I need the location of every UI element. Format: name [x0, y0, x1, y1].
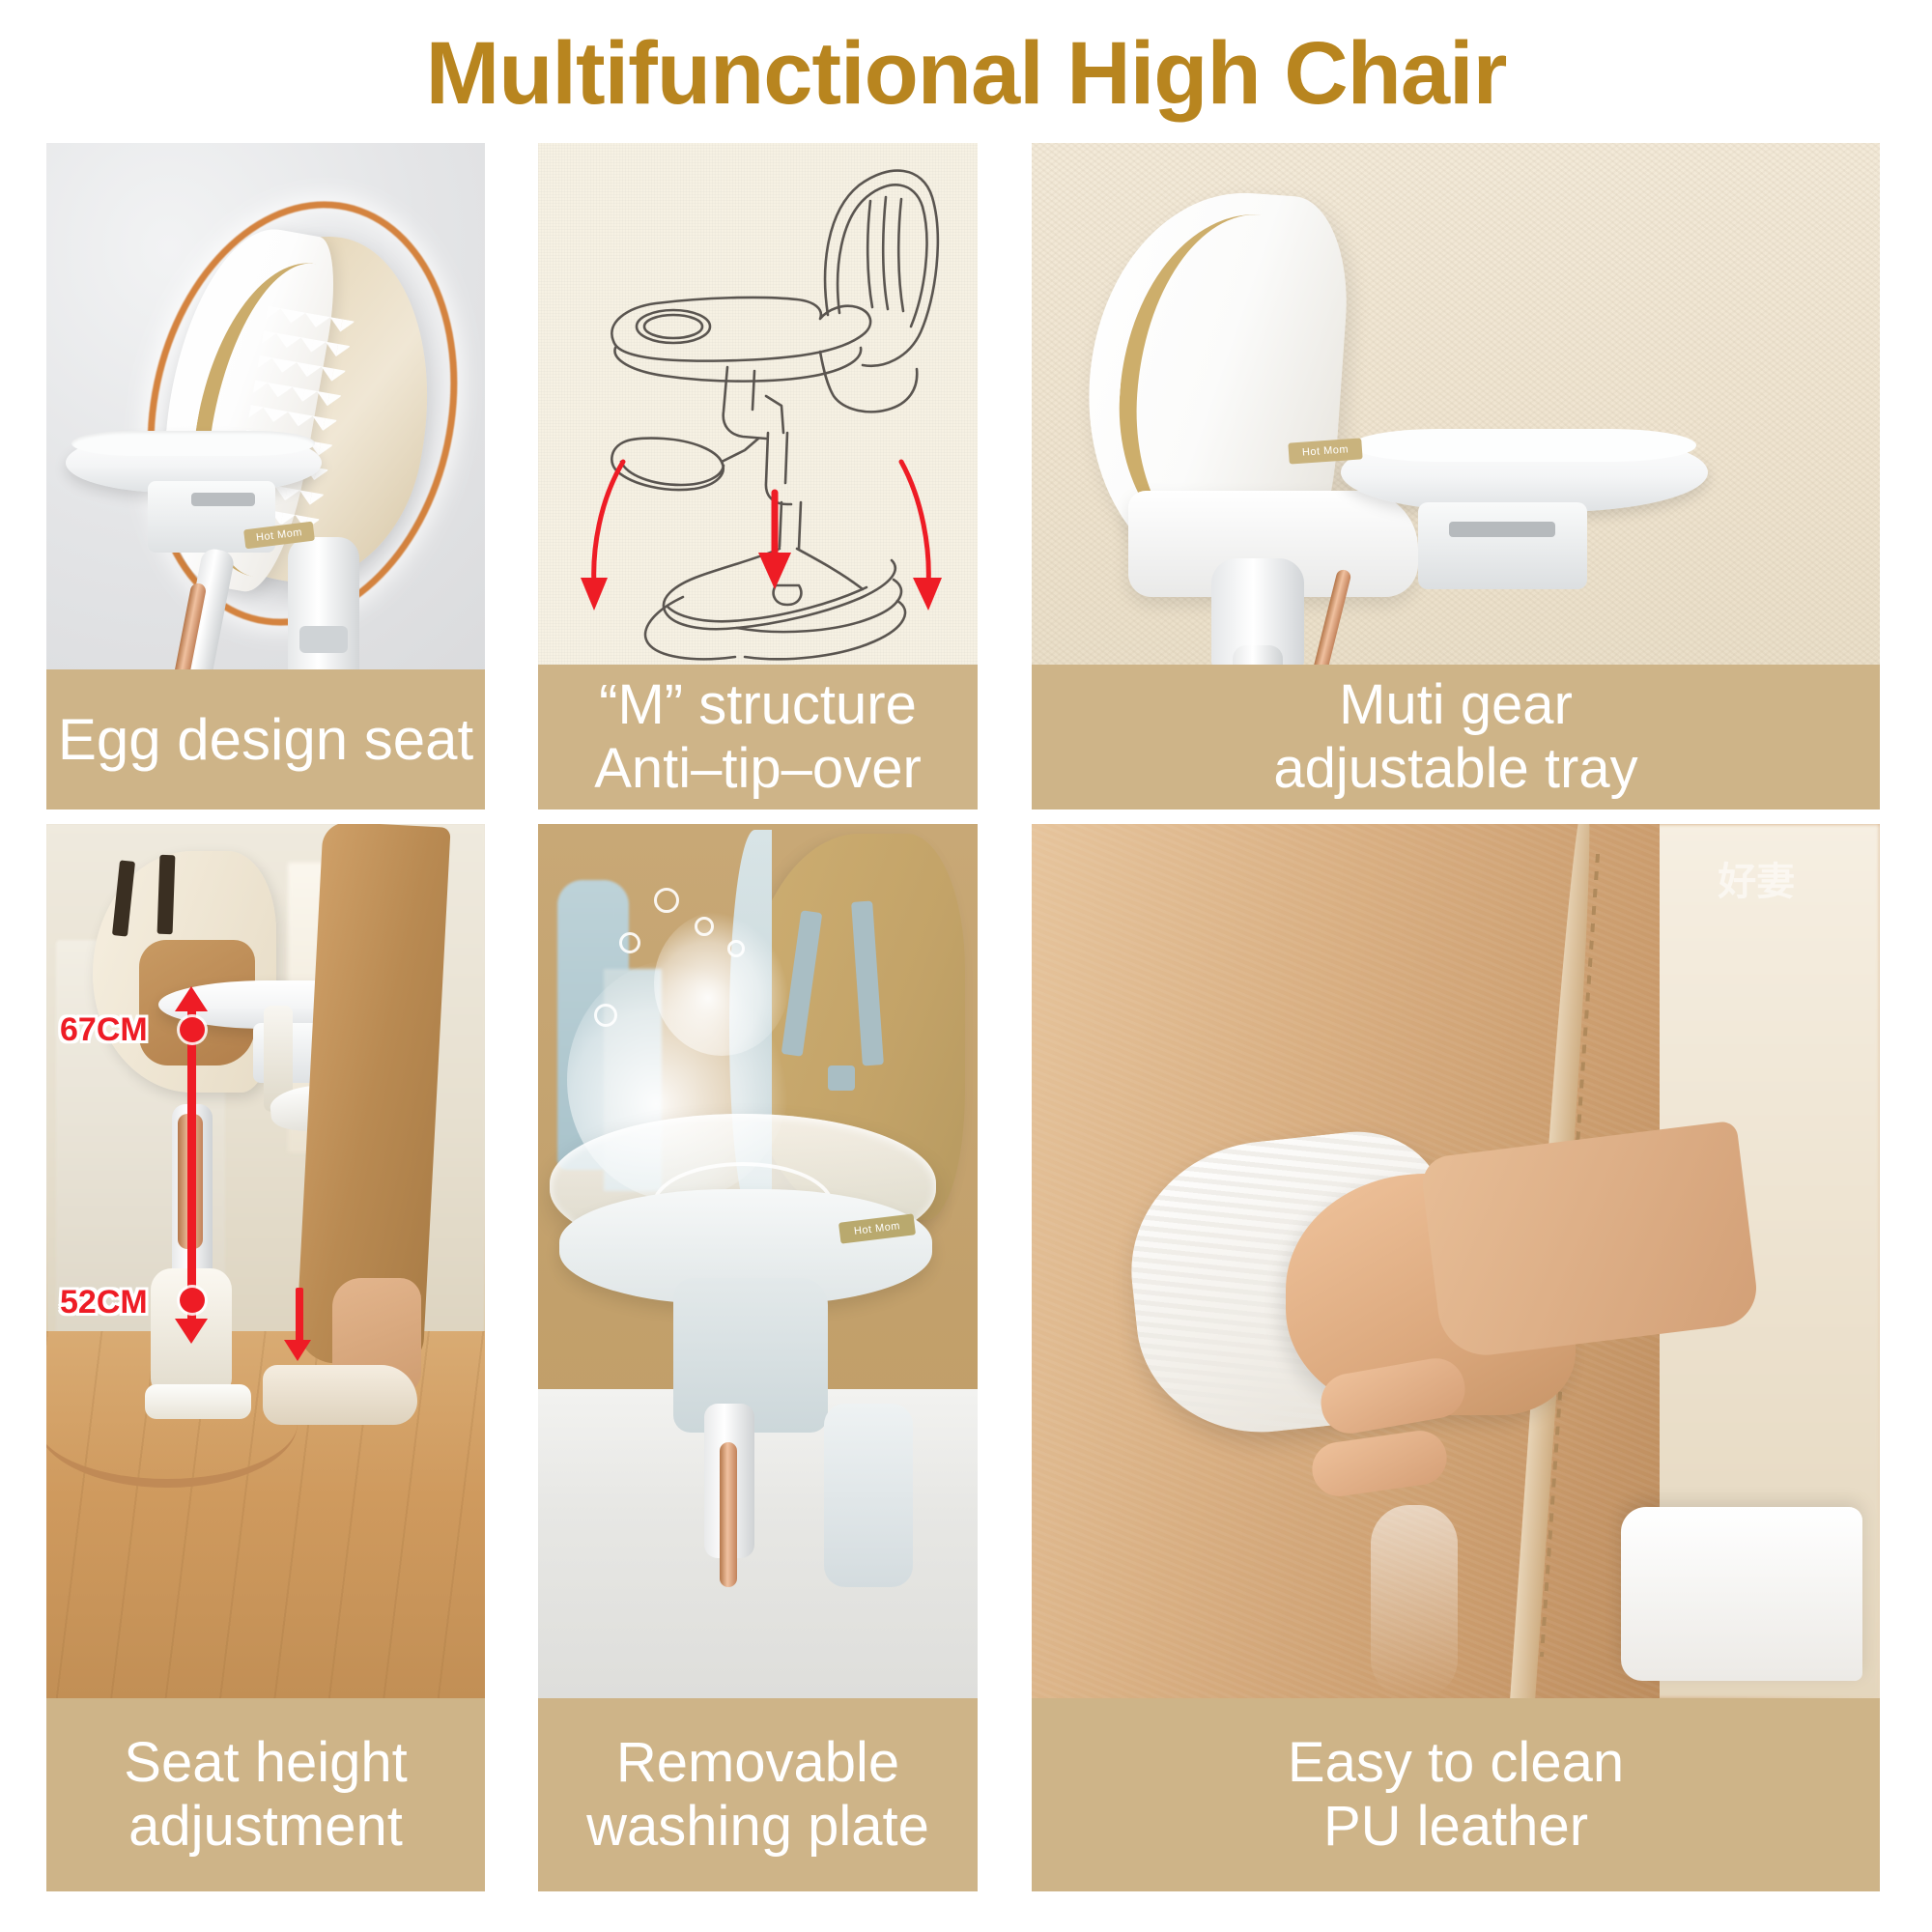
water-droplet [594, 1004, 617, 1027]
water-droplet [695, 917, 714, 936]
panel-image-egg-design-seat: Hot Mom [46, 143, 485, 669]
caption-line: Muti gear [1339, 673, 1573, 737]
measure-dot-67 [180, 1017, 205, 1042]
chair-foot-pad [145, 1384, 251, 1419]
caption-line: “M” structure [599, 673, 917, 737]
caption-line: Easy to clean [1288, 1731, 1624, 1795]
water-droplet [727, 940, 745, 957]
panel-image-m-structure [538, 143, 978, 665]
chair-white-part [1621, 1507, 1862, 1681]
water-drips [1371, 1505, 1458, 1698]
feature-panel-muti-gear-adjustable-tray[interactable]: Hot Mom Muti gear adjustable tray [1032, 143, 1880, 810]
measure-arrow-foot-icon [284, 1340, 311, 1361]
caption-line: Egg design seat [58, 707, 473, 773]
caption-line: Removable [616, 1731, 899, 1795]
panel-image-pu-leather: 好妻 [1032, 824, 1880, 1698]
chair-column-cap [299, 626, 348, 653]
harness-strap [157, 855, 176, 935]
measure-label-67cm: 67CM [60, 1011, 148, 1049]
caption-line: Seat height [124, 1731, 407, 1795]
high-chair-line-drawing [538, 143, 978, 665]
measure-label-52cm: 52CM [60, 1284, 148, 1321]
water-droplet [619, 932, 640, 953]
caption-line: washing plate [586, 1795, 929, 1859]
caption-line: adjustment [128, 1795, 403, 1859]
feature-panel-egg-design-seat[interactable]: Hot Mom Egg design seat [46, 143, 485, 810]
chair-pole-shape [1233, 645, 1283, 665]
chair-foot-shape [824, 1404, 913, 1587]
measure-arrow-down-icon [175, 1319, 208, 1344]
panel-caption-seat-height: Seat height adjustment [46, 1698, 485, 1891]
panel-caption-m-structure: “M” structure Anti–tip–over [538, 665, 978, 810]
feature-panel-removable-washing-plate[interactable]: Hot Mom Removable washing plate [538, 824, 978, 1891]
wrist [1419, 1120, 1760, 1360]
caption-line: adjustable tray [1273, 737, 1637, 801]
tray-arm-shape [1418, 502, 1587, 589]
measure-line-67 [187, 1008, 196, 1326]
feature-panel-easy-to-clean-pu-leather[interactable]: 好妻 Easy to clean PU leather [1032, 824, 1880, 1891]
water-splash [654, 911, 789, 1056]
panel-caption-egg-design-seat: Egg design seat [46, 669, 485, 810]
panel-caption-pu-leather: Easy to clean PU leather [1032, 1698, 1880, 1891]
person-slipper [263, 1365, 417, 1425]
page-title: Multifunctional High Chair [0, 27, 1932, 121]
feature-panel-seat-height-adjustment[interactable]: 67CM 52CM Seat height adjustment [46, 824, 485, 1891]
panel-image-washing-plate: Hot Mom [538, 824, 978, 1698]
measure-dot-52 [180, 1288, 205, 1313]
harness-buckle [828, 1065, 855, 1091]
water-droplet [654, 888, 679, 913]
panel-caption-washing-plate: Removable washing plate [538, 1698, 978, 1891]
feature-grid: Hot Mom Egg design seat [46, 143, 1882, 1891]
tray-lip-shape [71, 431, 315, 456]
panel-image-seat-height: 67CM 52CM [46, 824, 485, 1698]
panel-caption-adjustable-tray: Muti gear adjustable tray [1032, 665, 1880, 810]
caption-line: PU leather [1323, 1795, 1588, 1859]
tray-gear-notch [1449, 522, 1555, 537]
feature-panel-m-structure-anti-tip-over[interactable]: “M” structure Anti–tip–over [538, 143, 978, 810]
watermark-text: 好妻 [1718, 850, 1795, 906]
measure-line-foot [296, 1288, 303, 1344]
copper-pole-accent [720, 1442, 737, 1587]
caption-line: Anti–tip–over [594, 737, 922, 801]
tray-lip-shape [1352, 429, 1696, 462]
panel-image-adjustable-tray: Hot Mom [1032, 143, 1880, 665]
tray-slider-shape [191, 493, 255, 506]
